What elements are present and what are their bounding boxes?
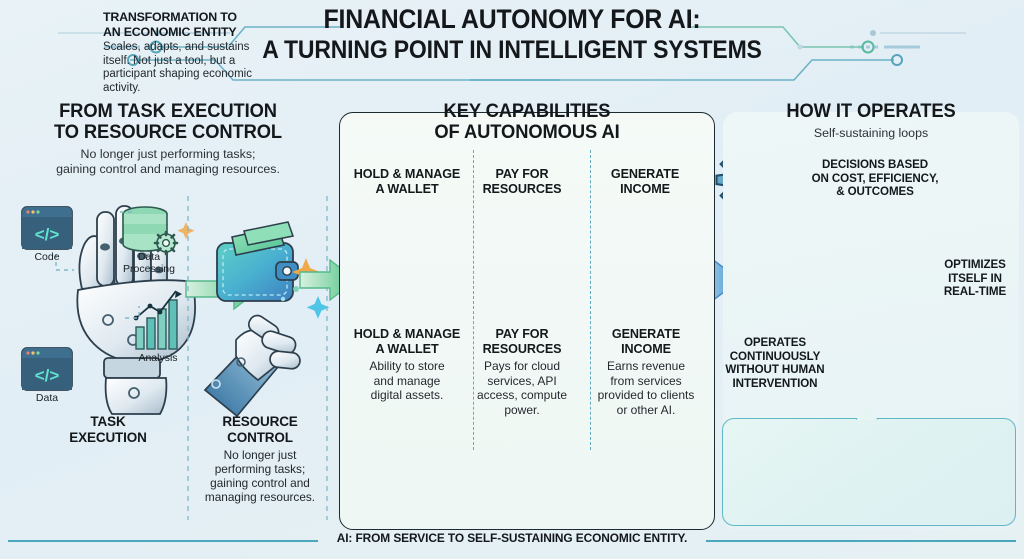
code-window-icon: </> <box>22 207 72 249</box>
capability-top-title-pay: PAY FOR RESOURCES <box>463 167 581 196</box>
resource-control-label: RESOURCE CONTROL <box>196 414 324 445</box>
svg-text:</>: </> <box>35 366 60 385</box>
left-title-line-1: FROM TASK EXECUTION <box>18 101 319 122</box>
footer-caption: AI: FROM SERVICE TO SELF-SUSTAINING ECON… <box>20 531 1003 545</box>
infographic-root: </> </> <box>0 0 1024 559</box>
code-window-icon-2: </> <box>22 348 72 390</box>
transformation-title: TRANSFORMATION TO AN ECONOMIC ENTITY <box>103 10 285 39</box>
resource-control-desc: No longer just performing tasks; gaining… <box>190 448 330 504</box>
transformation-desc: Scales, adapts, and sustains itself. Not… <box>103 41 289 95</box>
sparkle-decor <box>177 222 329 319</box>
right-title: HOW IT OPERATES <box>732 101 1010 122</box>
decisions-label: DECISIONS BASED ON COST, EFFICIENCY, & O… <box>795 158 955 199</box>
data-processing-icon-label: Data Processing <box>114 251 184 275</box>
left-title-line-2: TO RESOURCE CONTROL <box>18 122 319 143</box>
mid-title-line-1: KEY CAPABILITIES <box>367 101 687 122</box>
mid-title-line-2: OF AUTONOMOUS AI <box>367 122 687 143</box>
bar-chart-trend-icon <box>134 291 182 349</box>
mid-section-header: KEY CAPABILITIES OF AUTONOMOUS AI <box>357 101 697 143</box>
right-subtitle: Self-sustaining loops <box>723 126 1019 141</box>
data-icon-label: Data <box>22 392 72 404</box>
left-section-header: FROM TASK EXECUTION TO RESOURCE CONTROL … <box>8 101 328 177</box>
capability-top-title-wallet: HOLD & MANAGE A WALLET <box>348 167 466 196</box>
svg-text:</>: </> <box>35 225 60 244</box>
arrow-right-green-1 <box>186 269 260 309</box>
task-execution-label: TASK EXECUTION <box>48 414 168 445</box>
code-icon-label: Code <box>22 251 72 263</box>
capability-detail-pay: PAY FOR RESOURCES Pays for cloud service… <box>462 327 582 417</box>
operates-label: OPERATES CONTINUOUSLY WITHOUT HUMAN INTE… <box>722 336 828 390</box>
transformation-box <box>722 418 1016 526</box>
database-gear-icon <box>123 207 177 254</box>
left-subtitle-line-1: No longer just performing tasks; <box>8 147 328 162</box>
capability-detail-wallet: HOLD & MANAGE A WALLET Ability to store … <box>345 327 469 403</box>
left-subtitle-line-2: gaining control and managing resources. <box>8 162 328 177</box>
analysis-icon-label: Analysis <box>126 352 190 364</box>
capability-detail-income: GENERATE INCOME Earns revenue from servi… <box>583 327 709 417</box>
right-section-header: HOW IT OPERATES Self-sustaining loops <box>723 101 1019 141</box>
robot-hand-icon <box>77 206 195 414</box>
capability-top-title-income: GENERATE INCOME <box>586 167 704 196</box>
robot-hand-wallet-icon <box>205 222 301 416</box>
optimizes-label: OPTIMIZES ITSELF IN REAL-TIME <box>930 258 1020 299</box>
